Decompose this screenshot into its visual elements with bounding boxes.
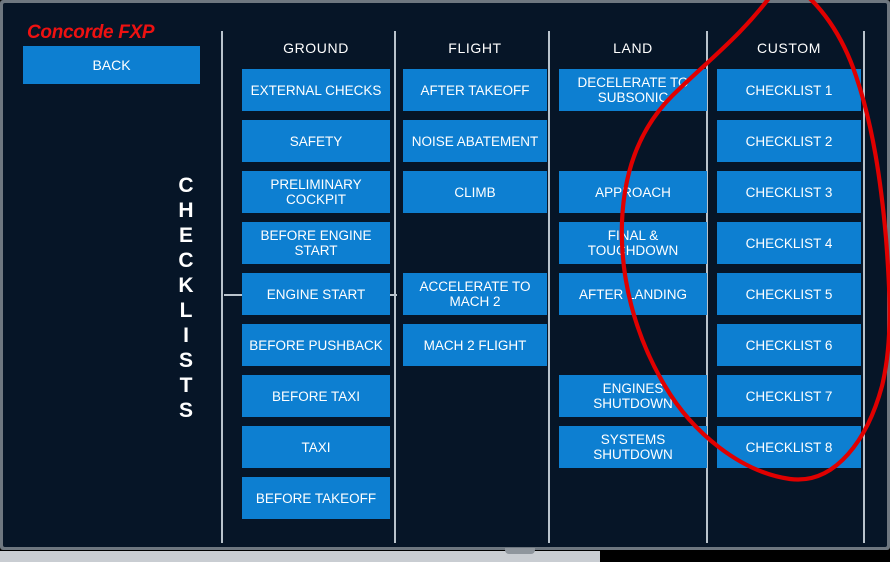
column-header-ground: GROUND bbox=[242, 31, 390, 65]
checklist-button-ground-8[interactable]: TAXI bbox=[242, 426, 390, 468]
column-separator bbox=[863, 31, 865, 543]
checklist-cell-empty bbox=[717, 473, 861, 524]
checklist-button-custom-3[interactable]: CHECKLIST 3 bbox=[717, 171, 861, 213]
checklist-cell: NOISE ABATEMENT bbox=[403, 116, 547, 167]
column-ground: GROUND EXTERNAL CHECKS SAFETY PRELIMINAR… bbox=[242, 31, 390, 524]
checklist-button-ground-7[interactable]: BEFORE TAXI bbox=[242, 375, 390, 417]
checklist-cell-empty bbox=[559, 116, 707, 167]
checklist-cell-empty bbox=[403, 473, 547, 524]
column-land: LAND DECELERATE TO SUBSONIC APPROACH FIN… bbox=[559, 31, 707, 524]
checklist-button-ground-2[interactable]: SAFETY bbox=[242, 120, 390, 162]
checklist-panel: Concorde FXP BACK C H E C K L I S T S bbox=[3, 3, 887, 547]
checklist-cell: BEFORE PUSHBACK bbox=[242, 320, 390, 371]
checklist-button-land-8[interactable]: SYSTEMS SHUTDOWN bbox=[559, 426, 707, 468]
checklist-button-custom-1[interactable]: CHECKLIST 1 bbox=[717, 69, 861, 111]
checklist-button-ground-9[interactable]: BEFORE TAKEOFF bbox=[242, 477, 390, 519]
checklist-button-flight-2[interactable]: NOISE ABATEMENT bbox=[403, 120, 547, 162]
checklist-cell: AFTER LANDING bbox=[559, 269, 707, 320]
checklist-cell-empty bbox=[559, 320, 707, 371]
checklist-cell: ENGINE START bbox=[242, 269, 390, 320]
checklist-cell: APPROACH bbox=[559, 167, 707, 218]
checklist-cell: BEFORE TAKEOFF bbox=[242, 473, 390, 524]
vertical-letter: C bbox=[178, 248, 193, 273]
checklist-cell-empty bbox=[403, 218, 547, 269]
checklist-cell: AFTER TAKEOFF bbox=[403, 65, 547, 116]
checklist-button-custom-5[interactable]: CHECKLIST 5 bbox=[717, 273, 861, 315]
app-screen: Concorde FXP BACK C H E C K L I S T S bbox=[0, 0, 890, 562]
checklist-cell: CHECKLIST 3 bbox=[717, 167, 861, 218]
checklist-cell: CHECKLIST 7 bbox=[717, 371, 861, 422]
checklist-button-custom-8[interactable]: CHECKLIST 8 bbox=[717, 426, 861, 468]
column-header-land: LAND bbox=[559, 31, 707, 65]
column-flight: FLIGHT AFTER TAKEOFF NOISE ABATEMENT CLI… bbox=[403, 31, 547, 524]
vertical-letter: I bbox=[183, 323, 189, 348]
vertical-letter: T bbox=[180, 373, 193, 398]
bottom-notch bbox=[505, 548, 535, 554]
checklist-cell: CHECKLIST 8 bbox=[717, 422, 861, 473]
bottom-strip-right bbox=[600, 551, 890, 562]
column-separator bbox=[394, 31, 396, 543]
checklist-cell: CHECKLIST 2 bbox=[717, 116, 861, 167]
checklist-button-land-4[interactable]: FINAL & TOUCHDOWN bbox=[559, 222, 707, 264]
checklist-cell: BEFORE TAXI bbox=[242, 371, 390, 422]
checklist-cell: TAXI bbox=[242, 422, 390, 473]
checklist-button-flight-5[interactable]: ACCELERATE TO MACH 2 bbox=[403, 273, 547, 315]
vertical-letter: K bbox=[178, 273, 193, 298]
column-header-flight: FLIGHT bbox=[403, 31, 547, 65]
checklist-button-land-5[interactable]: AFTER LANDING bbox=[559, 273, 707, 315]
checklist-cell: MACH 2 FLIGHT bbox=[403, 320, 547, 371]
window-frame: Concorde FXP BACK C H E C K L I S T S bbox=[0, 0, 890, 550]
vertical-letter: E bbox=[179, 223, 193, 248]
checklist-button-ground-4[interactable]: BEFORE ENGINE START bbox=[242, 222, 390, 264]
checklist-button-flight-6[interactable]: MACH 2 FLIGHT bbox=[403, 324, 547, 366]
checklist-button-flight-1[interactable]: AFTER TAKEOFF bbox=[403, 69, 547, 111]
checklist-button-custom-2[interactable]: CHECKLIST 2 bbox=[717, 120, 861, 162]
back-button-label: BACK bbox=[92, 57, 130, 73]
checklist-button-custom-7[interactable]: CHECKLIST 7 bbox=[717, 375, 861, 417]
section-vertical-label: C H E C K L I S T S bbox=[173, 173, 199, 423]
checklist-button-flight-3[interactable]: CLIMB bbox=[403, 171, 547, 213]
checklist-cell: ACCELERATE TO MACH 2 bbox=[403, 269, 547, 320]
checklist-cell: CHECKLIST 1 bbox=[717, 65, 861, 116]
checklist-cell: BEFORE ENGINE START bbox=[242, 218, 390, 269]
checklist-button-land-7[interactable]: ENGINES SHUTDOWN bbox=[559, 375, 707, 417]
vertical-letter: C bbox=[178, 173, 193, 198]
checklist-button-ground-5[interactable]: ENGINE START bbox=[242, 273, 390, 315]
checklist-cell: CHECKLIST 6 bbox=[717, 320, 861, 371]
column-separator bbox=[548, 31, 550, 543]
checklist-cell: ENGINES SHUTDOWN bbox=[559, 371, 707, 422]
checklist-cell: PRELIMINARY COCKPIT bbox=[242, 167, 390, 218]
checklist-cell-empty bbox=[403, 371, 547, 422]
vertical-letter: S bbox=[179, 398, 193, 423]
column-separator bbox=[221, 31, 223, 543]
checklist-cell: CLIMB bbox=[403, 167, 547, 218]
checklist-button-land-3[interactable]: APPROACH bbox=[559, 171, 707, 213]
back-button[interactable]: BACK bbox=[23, 46, 200, 84]
checklist-cell: SYSTEMS SHUTDOWN bbox=[559, 422, 707, 473]
column-custom: CUSTOM CHECKLIST 1 CHECKLIST 2 CHECKLIST… bbox=[717, 31, 861, 524]
checklist-button-ground-1[interactable]: EXTERNAL CHECKS bbox=[242, 69, 390, 111]
vertical-letter: H bbox=[178, 198, 193, 223]
vertical-letter: L bbox=[180, 298, 193, 323]
checklist-cell: SAFETY bbox=[242, 116, 390, 167]
checklist-cell: CHECKLIST 4 bbox=[717, 218, 861, 269]
column-header-custom: CUSTOM bbox=[717, 31, 861, 65]
checklist-cell-empty bbox=[403, 422, 547, 473]
checklist-button-ground-3[interactable]: PRELIMINARY COCKPIT bbox=[242, 171, 390, 213]
checklist-button-custom-6[interactable]: CHECKLIST 6 bbox=[717, 324, 861, 366]
vertical-letter: S bbox=[179, 348, 193, 373]
checklist-button-custom-4[interactable]: CHECKLIST 4 bbox=[717, 222, 861, 264]
checklist-button-land-1[interactable]: DECELERATE TO SUBSONIC bbox=[559, 69, 707, 111]
checklist-cell-empty bbox=[559, 473, 707, 524]
checklist-cell: FINAL & TOUCHDOWN bbox=[559, 218, 707, 269]
checklist-button-ground-6[interactable]: BEFORE PUSHBACK bbox=[242, 324, 390, 366]
brand-title: Concorde FXP bbox=[27, 22, 154, 44]
checklist-cell: CHECKLIST 5 bbox=[717, 269, 861, 320]
checklist-cell: EXTERNAL CHECKS bbox=[242, 65, 390, 116]
checklist-cell: DECELERATE TO SUBSONIC bbox=[559, 65, 707, 116]
